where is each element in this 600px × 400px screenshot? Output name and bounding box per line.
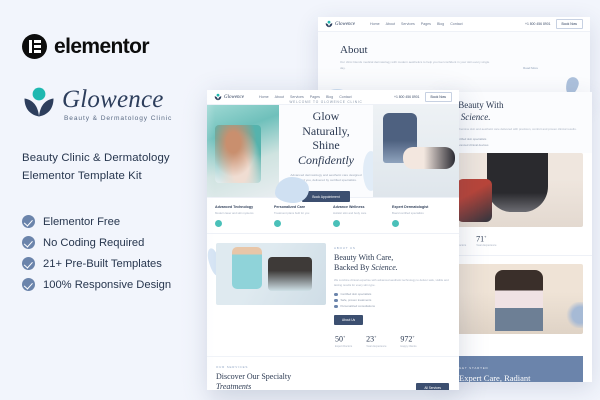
nav-link-services[interactable]: Services [290, 95, 304, 99]
feature-column: Expert Dermatologist Board certified spe… [392, 205, 451, 227]
check-dot-icon [334, 299, 338, 303]
nav-link-blog[interactable]: Blog [437, 22, 444, 26]
nav-book-button[interactable]: Book Now [556, 19, 583, 29]
hero-title-line2-plain: Shine [312, 138, 339, 152]
about-paragraph: Our clinic blends medical dermatology wi… [340, 60, 490, 71]
mockup-services-page[interactable]: & Beauty With By Science. Comprehensive … [440, 92, 592, 382]
about-title-line2-plain: Backed By [334, 263, 371, 272]
right-hero-paragraph: Comprehensive skin and aesthetic care de… [449, 127, 583, 133]
dermatologist-icon [392, 220, 399, 227]
cta-band-line1: Expert Care, Radiant [459, 373, 531, 382]
stat-number: 972 [400, 335, 412, 344]
nav-book-button[interactable]: Book Now [425, 92, 452, 102]
stat-suffix: + [412, 334, 414, 339]
right-hero: & Beauty With By Science. Comprehensive … [440, 92, 592, 153]
hero-image-right [373, 105, 459, 197]
right-stats: 70+ Expert Doctors 71+ Years Experience [440, 227, 592, 257]
stat-label: Years Experience [476, 244, 496, 247]
about-section: ABOUT US Beauty With Care, Backed By Sci… [207, 234, 459, 332]
feature-list: Elementor Free No Coding Required 21+ Pr… [22, 215, 199, 291]
stat-label: Happy Clients [400, 345, 416, 348]
stat-number: 50 [335, 335, 343, 344]
list-item: Certified skin specialists [334, 292, 450, 296]
glowence-mark-icon [325, 20, 333, 28]
mockup-about-page[interactable]: Glowence Home About Services Pages Blog … [318, 17, 590, 99]
about-title: About [340, 44, 568, 56]
right-hero-title: & Beauty With By Science. [449, 100, 583, 123]
stat-item: 972+ Happy Clients [400, 334, 416, 348]
hero-title-line2-em: Confidently [298, 153, 354, 167]
nav-logo-back[interactable]: Glowence [325, 20, 355, 28]
stat-number: 23 [366, 335, 374, 344]
glowence-tagline: Beauty & Dermatology Clinic [62, 115, 172, 122]
stat-value: 23+ [366, 334, 386, 344]
stat-value: 972+ [400, 334, 416, 344]
right-hero-image [449, 153, 583, 227]
nav-phone[interactable]: +1 800 456 8901 [525, 22, 551, 26]
right-doctor-image [449, 264, 583, 334]
stat-number: 71 [476, 234, 484, 243]
list-item: Safe, proven treatments [334, 298, 450, 302]
stat-value: 50+ [335, 334, 352, 344]
nav-link-home[interactable]: Home [259, 95, 269, 99]
about-eyebrow: ABOUT US [334, 246, 450, 250]
nav-link-contact[interactable]: Contact [339, 95, 351, 99]
cta-band-title: Expert Care, Radiant Results. Visit Us N… [459, 373, 573, 382]
feature-desc: Board certified specialists [392, 211, 445, 216]
treatments-cta-button[interactable]: All Services [416, 383, 449, 390]
bullet-label: Advanced clinical devices [456, 143, 489, 147]
list-item: Certified skin specialists [449, 137, 583, 141]
nav-link-blog[interactable]: Blog [326, 95, 333, 99]
wellness-icon [333, 220, 340, 227]
stat-label: Expert Doctors [335, 345, 352, 348]
about-stats: 50+ Expert Doctors 23+ Years Experience … [207, 332, 459, 356]
nav-link-pages[interactable]: Pages [421, 22, 431, 26]
list-item: 21+ Pre-Built Templates [22, 257, 199, 270]
nav-link-about[interactable]: About [386, 22, 395, 26]
stat-label: Years Experience [366, 345, 386, 348]
bullet-label: Certified skin specialists [456, 137, 487, 141]
hero-content: WELCOME TO GLOWENCE CLINIC Glow Naturall… [279, 105, 373, 197]
glowence-name: Glowence [62, 86, 164, 113]
about-cta-button[interactable]: About Us [334, 315, 363, 325]
elementor-wordmark: elementor [54, 35, 149, 59]
about-content: ABOUT US Beauty With Care, Backed By Sci… [334, 243, 450, 326]
list-item: 100% Responsive Design [22, 278, 199, 291]
feature-desc: Treatment plans built for you [274, 211, 327, 216]
check-circle-icon [22, 236, 35, 249]
check-circle-icon [22, 257, 35, 270]
stat-suffix: + [343, 334, 345, 339]
bullet-label: Certified skin specialists [341, 292, 372, 296]
hero-section: WELCOME TO GLOWENCE CLINIC Glow Naturall… [207, 105, 459, 197]
about-read-more-link[interactable]: Read More [523, 66, 538, 70]
site-nav-back[interactable]: Glowence Home About Services Pages Blog … [318, 17, 590, 32]
cta-band: GET STARTED Expert Care, Radiant Results… [449, 356, 583, 382]
hero-title: Glow Naturally, Shine Confidently [288, 109, 364, 168]
feature-column: Personalized Care Treatment plans built … [274, 205, 333, 227]
nav-link-contact[interactable]: Contact [450, 22, 462, 26]
glowence-wordmark: Glowence Beauty & Dermatology Clinic [62, 85, 172, 122]
about-title-line2-em: Science. [371, 263, 397, 272]
feature-column: Advance Wellness Holistic skin and body … [333, 205, 392, 227]
right-hero-bullets: Certified skin specialists Advanced clin… [449, 137, 583, 147]
kit-title-line2: Elementor Template Kit [22, 170, 142, 182]
stat-value: 71+ [476, 234, 496, 244]
nav-phone[interactable]: +1 800 456 8901 [394, 95, 420, 99]
stat-item: 50+ Expert Doctors [335, 334, 352, 348]
stat-suffix: + [374, 334, 376, 339]
about-hero: About Our clinic blends medical dermatol… [318, 32, 590, 99]
about-paragraph: We combine clinical expertise with advan… [334, 278, 450, 289]
kit-title-line1: Beauty Clinic & Dermatology [22, 152, 170, 164]
glowence-mark-icon [22, 85, 56, 119]
nav-brand-name: Glowence [224, 95, 244, 100]
promo-panel: elementor Glowence Beauty & Dermatology … [0, 0, 215, 400]
hero-image-left [207, 105, 279, 197]
kit-title: Beauty Clinic & Dermatology Elementor Te… [22, 150, 199, 185]
nav-brand-name: Glowence [335, 22, 355, 27]
feature-title: Expert Dermatologist [392, 205, 445, 209]
nav-link-pages[interactable]: Pages [310, 95, 320, 99]
feature-label: 21+ Pre-Built Templates [43, 258, 162, 270]
about-image [216, 243, 326, 305]
nav-link-about[interactable]: About [275, 95, 284, 99]
technology-icon [215, 220, 222, 227]
feature-label: 100% Responsive Design [43, 279, 171, 291]
list-item: No Coding Required [22, 236, 199, 249]
feature-title: Personalized Care [274, 205, 327, 209]
treatments-title-line2: Treatments [216, 382, 251, 390]
feature-label: Elementor Free [43, 216, 120, 228]
leaf-decoration-icon [565, 302, 583, 328]
check-circle-icon [22, 215, 35, 228]
nav-actions-front[interactable]: +1 800 456 8901 Book Now [394, 92, 452, 102]
glowence-mark-icon [214, 93, 222, 101]
check-dot-icon [334, 293, 338, 297]
hero-title-line1: Glow Naturally, [302, 109, 350, 138]
feature-column: Advanced Technology Modern laser and ski… [215, 205, 274, 227]
feature-desc: Holistic skin and body care [333, 211, 386, 216]
care-icon [274, 220, 281, 227]
feature-desc: Modern laser and skin systems [215, 211, 268, 216]
feature-strip: Advanced Technology Modern laser and ski… [207, 197, 459, 234]
elementor-icon [22, 34, 47, 59]
glowence-logo: Glowence Beauty & Dermatology Clinic [22, 85, 199, 122]
bullet-label: Safe, proven treatments [341, 298, 372, 302]
blob-decoration [275, 177, 309, 203]
feature-title: Advance Wellness [333, 205, 386, 209]
about-title: Beauty With Care, Backed By Science. [334, 253, 450, 274]
stat-item: 23+ Years Experience [366, 334, 386, 348]
hero-cta-button[interactable]: Book Appointment [302, 191, 350, 202]
check-dot-icon [334, 305, 338, 309]
list-item: Elementor Free [22, 215, 199, 228]
treatments-title-line1: Discover Our Specialty [216, 372, 291, 381]
nav-links-back[interactable]: Home About Services Pages Blog Contact [370, 22, 463, 26]
treatments-title: Discover Our Specialty Treatments [216, 372, 450, 390]
nav-actions-back[interactable]: +1 800 456 8901 Book Now [525, 19, 583, 29]
cta-band-eyebrow: GET STARTED [459, 366, 573, 370]
check-circle-icon [22, 278, 35, 291]
about-bullets: Certified skin specialists Safe, proven … [334, 292, 450, 308]
stat-item: 71+ Years Experience [476, 234, 496, 248]
list-item: Personalized consultations [334, 304, 450, 308]
treatments-section: OUR SERVICES Discover Our Specialty Trea… [207, 356, 459, 390]
list-item: Advanced clinical devices [449, 143, 583, 147]
stat-suffix: + [484, 234, 486, 239]
treatments-eyebrow: OUR SERVICES [216, 365, 450, 369]
nav-logo-front[interactable]: Glowence [214, 93, 244, 101]
mockup-home-page[interactable]: Glowence Home About Services Pages Blog … [207, 90, 459, 390]
elementor-logo: elementor [22, 34, 199, 59]
hero-eyebrow: WELCOME TO GLOWENCE CLINIC [289, 100, 362, 104]
nav-links-front[interactable]: Home About Services Pages Blog Contact [259, 95, 352, 99]
feature-title: Advanced Technology [215, 205, 268, 209]
nav-link-services[interactable]: Services [401, 22, 415, 26]
nav-link-home[interactable]: Home [370, 22, 380, 26]
feature-label: No Coding Required [43, 237, 144, 249]
right-spacer [449, 334, 583, 347]
about-title-line1: Beauty With Care, [334, 253, 393, 262]
bullet-label: Personalized consultations [341, 304, 375, 308]
